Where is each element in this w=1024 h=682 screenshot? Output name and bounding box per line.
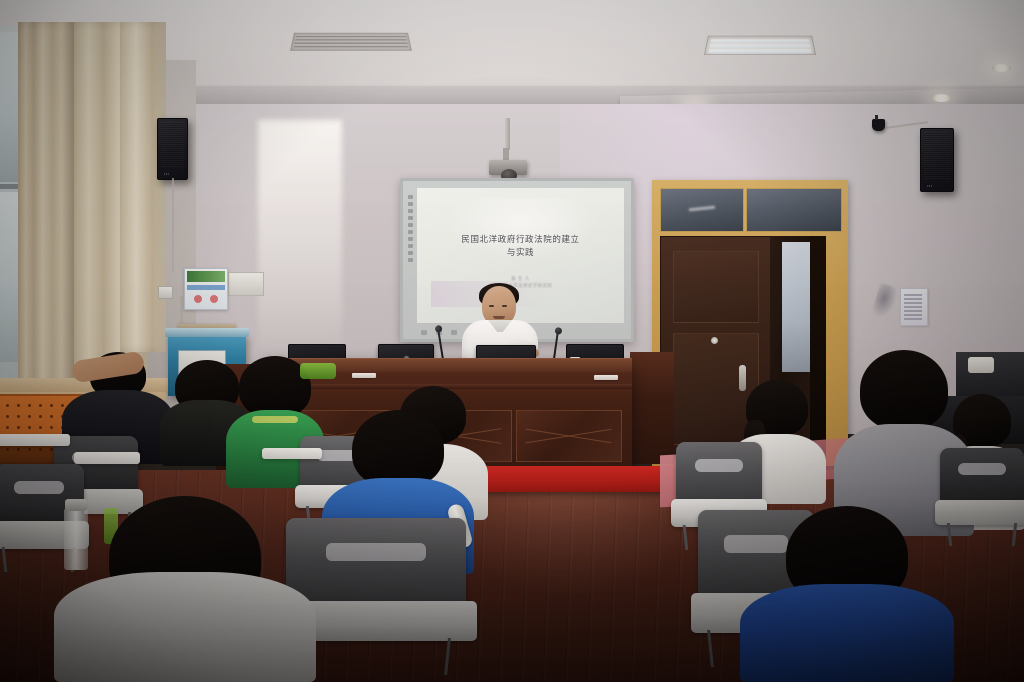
green-shirt-collar	[252, 416, 298, 423]
green-object	[300, 363, 336, 379]
podium-right-wing	[630, 352, 674, 464]
desk-surface-left	[0, 434, 70, 446]
head	[860, 350, 948, 430]
redo-icon[interactable]	[408, 223, 413, 227]
wall-notice	[900, 288, 928, 326]
wall-bright-strip	[258, 120, 342, 360]
zoom-icon[interactable]	[408, 251, 413, 255]
slide-subtitle-line1: 报 告 人	[417, 276, 624, 283]
eraser-icon[interactable]	[408, 202, 413, 206]
student-blue-fg-right	[740, 506, 954, 682]
wall-poster	[184, 268, 228, 310]
grid-icon[interactable]	[408, 237, 413, 241]
door-peephole-icon	[711, 337, 718, 344]
shape-icon[interactable]	[408, 209, 413, 213]
ceiling-vent-icon	[290, 33, 412, 51]
student-front-white	[54, 496, 316, 682]
head	[352, 410, 444, 488]
pen-icon[interactable]	[408, 195, 413, 199]
whiteboard-toolbar[interactable]	[406, 191, 415, 321]
transom-window	[660, 188, 744, 232]
wall-shelf	[228, 272, 264, 296]
select-icon[interactable]	[408, 244, 413, 248]
desk-surface-green	[262, 448, 322, 459]
podium-panel	[516, 410, 622, 462]
slide-title-line1: 民国北洋政府行政法院的建立	[417, 234, 624, 247]
projector-icon	[489, 160, 527, 175]
volume-icon[interactable]	[451, 330, 457, 335]
power-outlet-icon[interactable]	[158, 286, 173, 299]
security-camera-icon	[872, 119, 885, 131]
downlight-icon	[932, 94, 951, 102]
menu-icon[interactable]	[408, 258, 413, 262]
undo-icon[interactable]	[408, 216, 413, 220]
transom-window	[746, 188, 842, 232]
slide-title: 民国北洋政府行政法院的建立 与实践	[417, 234, 624, 260]
projector-pipe	[505, 118, 510, 150]
torso	[54, 572, 316, 682]
power-icon[interactable]	[421, 330, 427, 335]
lecture-hall-photo: ••• ••• 民国北洋政府行政法院的建	[0, 0, 1024, 682]
save-icon[interactable]	[408, 230, 413, 234]
curtain	[120, 22, 166, 352]
ceiling-light-panel-icon	[704, 36, 816, 55]
desk-surface-mid	[74, 452, 140, 464]
speaker-cable	[172, 178, 174, 272]
downlight-icon	[992, 64, 1011, 72]
curtain	[18, 22, 74, 398]
nameplate-left	[352, 373, 376, 378]
door-gap-light	[782, 242, 810, 372]
nameplate-right	[594, 375, 618, 380]
wall-speaker-left-icon: •••	[157, 118, 188, 180]
slide-title-line2: 与实践	[417, 247, 624, 260]
presenter-mouth	[493, 316, 505, 319]
wall-speaker-right-icon: •••	[920, 128, 954, 192]
torso	[740, 584, 954, 682]
